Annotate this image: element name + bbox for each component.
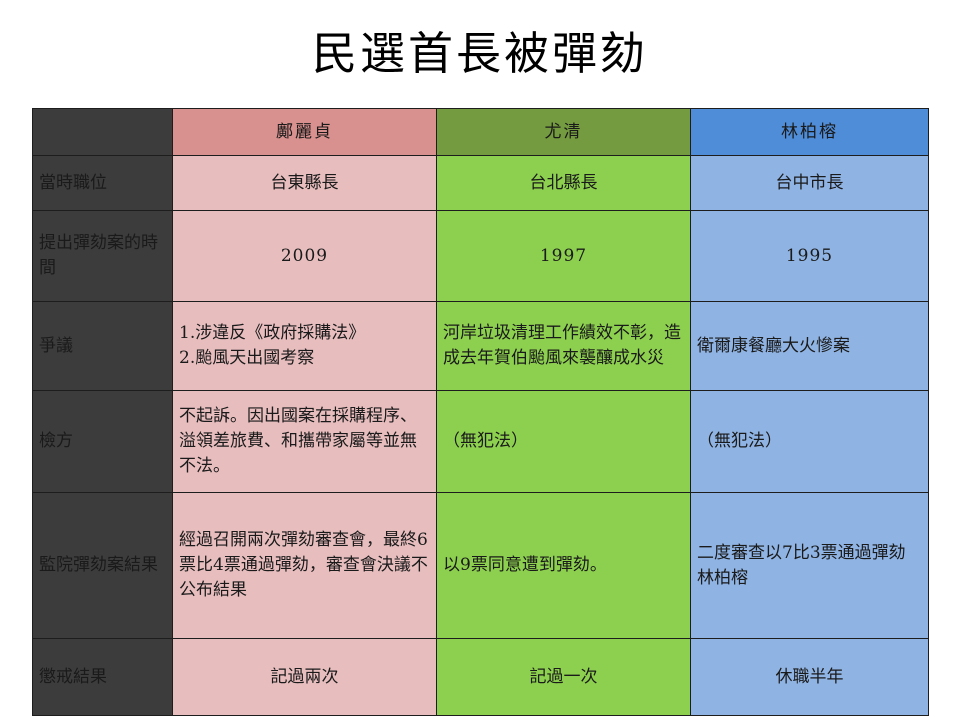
cell-time-1: 2009	[173, 211, 437, 302]
row-label-impeachment-result: 監院彈劾案結果	[33, 493, 173, 639]
impeachment-comparison-table: 鄺麗貞 尤清 林柏榕 當時職位 台東縣長 台北縣長 台中市長 提出彈劾案的時間 …	[32, 108, 929, 716]
cell-impeachment-result-3: 二度審查以7比3票通過彈劾林柏榕	[691, 493, 929, 639]
table-header-row: 鄺麗貞 尤清 林柏榕	[33, 109, 929, 156]
table-row-prosecution: 檢方 不起訴。因出國案在採購程序、溢領差旅費、和攜帶家屬等並無不法。 （無犯法）…	[33, 391, 929, 493]
table-row-punishment: 懲戒結果 記過兩次 記過一次 休職半年	[33, 639, 929, 716]
cell-prosecution-1: 不起訴。因出國案在採購程序、溢領差旅費、和攜帶家屬等並無不法。	[173, 391, 437, 493]
row-label-prosecution: 檢方	[33, 391, 173, 493]
cell-position-1: 台東縣長	[173, 156, 437, 211]
row-label-position: 當時職位	[33, 156, 173, 211]
table-row-time: 提出彈劾案的時間 2009 1997 1995	[33, 211, 929, 302]
cell-controversy-3: 衛爾康餐廳大火慘案	[691, 302, 929, 391]
cell-time-2: 1997	[437, 211, 691, 302]
column-header-person-3: 林柏榕	[691, 109, 929, 156]
cell-impeachment-result-1: 經過召開兩次彈劾審查會，最終6票比4票通過彈劾，審查會決議不公布結果	[173, 493, 437, 639]
cell-punishment-3: 休職半年	[691, 639, 929, 716]
row-label-punishment: 懲戒結果	[33, 639, 173, 716]
table-row-impeachment-result: 監院彈劾案結果 經過召開兩次彈劾審查會，最終6票比4票通過彈劾，審查會決議不公布…	[33, 493, 929, 639]
cell-punishment-1: 記過兩次	[173, 639, 437, 716]
cell-position-2: 台北縣長	[437, 156, 691, 211]
cell-prosecution-2: （無犯法）	[437, 391, 691, 493]
table-row-controversy: 爭議 1.涉違反《政府採購法》2.颱風天出國考察 河岸垃圾清理工作績效不彰，造成…	[33, 302, 929, 391]
cell-controversy-2: 河岸垃圾清理工作績效不彰，造成去年賀伯颱風來襲釀成水災	[437, 302, 691, 391]
column-header-person-2: 尤清	[437, 109, 691, 156]
cell-time-3: 1995	[691, 211, 929, 302]
column-header-person-1: 鄺麗貞	[173, 109, 437, 156]
table-row-position: 當時職位 台東縣長 台北縣長 台中市長	[33, 156, 929, 211]
slide-canvas: 民選首長被彈劾 鄺麗貞 尤清 林柏榕 當時職位 台東縣長 台北縣長 台中市長 提…	[0, 0, 960, 720]
cell-punishment-2: 記過一次	[437, 639, 691, 716]
cell-position-3: 台中市長	[691, 156, 929, 211]
table-corner-cell	[33, 109, 173, 156]
cell-impeachment-result-2: 以9票同意遭到彈劾。	[437, 493, 691, 639]
cell-prosecution-3: （無犯法）	[691, 391, 929, 493]
row-label-controversy: 爭議	[33, 302, 173, 391]
cell-controversy-1: 1.涉違反《政府採購法》2.颱風天出國考察	[173, 302, 437, 391]
page-title: 民選首長被彈劾	[0, 26, 960, 82]
row-label-time: 提出彈劾案的時間	[33, 211, 173, 302]
